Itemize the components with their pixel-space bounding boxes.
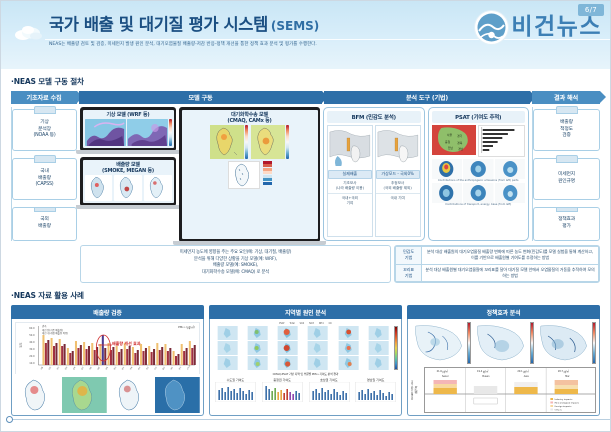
wrf-colorbar xyxy=(169,119,172,146)
legend-item-2: 개선 후(개정 배출량 적용) xyxy=(42,332,68,336)
chart-legend: 관측 개선 전(기존 배출량) 개선 후(개정 배출량 적용) xyxy=(42,325,68,336)
bfm-case-zero-note: 추정모사 (국외 배출량 제외) xyxy=(376,179,420,193)
method-desc-tagging: 분석 대상 배출원별 대기오염물질에 꼬리표를 달아 대기질 모델 안에서 오염… xyxy=(422,264,599,282)
ctm-map-3 xyxy=(228,161,260,189)
psat-col-labels: PSAT Total SO4 NO3 NH4 OC xyxy=(213,322,398,325)
policy-map-0 xyxy=(411,322,471,364)
policy-colorbar-0 xyxy=(467,322,471,364)
ctm-map-2 xyxy=(251,125,289,159)
svg-text:Meteorological impacts: Meteorological impacts xyxy=(555,402,580,405)
svg-text:경남: 경남 xyxy=(458,146,463,151)
method-desc-sensitivity: 분석 대상 배출원의 대기오염물질 배출량 변화에 따른 농도 변화(민감도)를… xyxy=(422,247,599,265)
svg-text:경북: 경북 xyxy=(457,140,462,145)
output-label: 미세먼지 원인규명 xyxy=(558,172,575,186)
bfm-map-zero xyxy=(376,126,420,170)
ctm-model-screen: 대기화학수송 모델 (CMAQ, CAMx 등) xyxy=(182,110,318,239)
usecase-card-emission-verification: 배출량 검증 60.050.040.0 30.020.010.0 xyxy=(11,305,204,416)
col-label-3: NO3 xyxy=(309,322,314,325)
col-label-0: PSAT xyxy=(279,322,284,325)
ctm-model-title: 대기화학수송 모델 (CMAQ, CAMx 등) xyxy=(182,110,318,125)
section-usecases: NEAS 자료 활용 사례 배출량 검증 60.050.040.0 xyxy=(11,290,600,416)
svg-text:Seoul: Seoul xyxy=(442,375,449,378)
emission-map-row xyxy=(15,377,200,413)
brand-name: 비건뉴스 xyxy=(511,16,602,39)
page-title-main: 국가 배출 및 대기질 평가 시스템 xyxy=(49,16,268,34)
ctm-map-1 xyxy=(210,125,248,159)
stage-ribbon-tools: 분석 도구 (기법) xyxy=(324,91,530,104)
psat-colorbar xyxy=(394,326,398,370)
stage-label: 분석 도구 (기법) xyxy=(406,93,448,102)
svg-text:40.0: 40.0 xyxy=(29,341,35,344)
bfm-case-zero: 가상모드 - 국외0% 추정모사 (국외 배출량 제외) 국내 기여 xyxy=(375,125,421,237)
svg-text:19.4 ㎍/㎥: 19.4 ㎍/㎥ xyxy=(477,369,489,373)
output-column: 배출량 적정도 검증 미세먼지 원인규명 정책효과 평가 xyxy=(532,107,600,241)
page-title-acronym: (SEMS) xyxy=(271,19,319,33)
stage-ribbon-models: 모델 구동 xyxy=(79,91,322,104)
policy-colorbar-1 xyxy=(530,322,534,364)
emission-map-1 xyxy=(85,175,113,201)
input-card-weather: 기상 분석장 (NOAA 등) xyxy=(12,109,77,151)
output-card-policy-eval: 정책효과 평가 xyxy=(533,207,600,241)
bfm-case-base-note: 기초모사 (나라 배출량 이용) xyxy=(328,179,372,193)
svg-text:20.1 ㎍/㎥: 20.1 ㎍/㎥ xyxy=(517,369,529,373)
card-title: 배출량 검증 xyxy=(11,305,204,319)
policy-axis-label: 부문별 기여 농도 (㎍/㎥) xyxy=(411,367,422,413)
input-column: 기상 분석장 (NOAA 등) 국내 배출량 (CAPSS) 국외 배출량 xyxy=(11,107,77,241)
method-note-table: 민감도 기법 분석 대상 배출원의 대기오염물질 배출량 변화에 따른 농도 변… xyxy=(394,245,600,283)
tool-panel-psat: PSAT (기여도 추적) 서울 경기 충청 경북 전남 경남 xyxy=(428,107,530,241)
laptop-icon-emission: 배출량 모델 (SMOKE, MEGAN 등) xyxy=(80,157,176,205)
laptop-icon-ctm: 대기화학수송 모델 (CMAQ, CAMx 등) xyxy=(179,107,320,241)
bfm-title: BFM (민감도 분석) xyxy=(327,111,421,123)
emission-bar-chart: 60.050.040.0 30.020.010.0 xyxy=(15,322,200,374)
card-body: PSAT Total SO4 NO3 NH4 OC xyxy=(209,319,402,416)
psat-grid-caption: CMAQ-PSAT 기반 지역 및 부문별 PM₂.₅ 기여도 분석 결과 xyxy=(213,372,398,376)
svg-text:충청: 충청 xyxy=(445,139,450,144)
section-title-usecases: NEAS 자료 활용 사례 xyxy=(11,290,600,301)
svg-text:30.0: 30.0 xyxy=(29,348,35,351)
stage-label: 결과 해석 xyxy=(554,93,578,102)
card-title: 지역별 원인 분석 xyxy=(209,305,402,319)
emission-model-screen: 배출량 모델 (SMOKE, MEGAN 등) xyxy=(83,160,174,203)
wrf-map-1 xyxy=(85,119,126,146)
svg-text:Others: Others xyxy=(555,409,562,412)
footer-bullet-icon xyxy=(6,416,13,423)
psat-contrib-row-1 xyxy=(432,159,526,179)
svg-text:21.6 ㎍/㎥: 21.6 ㎍/㎥ xyxy=(437,369,449,373)
chart-annotation: 배출량 개선 효과 xyxy=(112,341,141,347)
bfm-case-base: 실제배출 기초모사 (나라 배출량 이용) 국내+국외 기여 xyxy=(327,125,373,237)
emission-map-2 xyxy=(114,175,142,201)
svg-text:전남: 전남 xyxy=(447,145,452,150)
policy-stack-chart: 부문별 기여 농도 (㎍/㎥) xyxy=(411,367,596,413)
model-note: 미세먼지 농도에 영향을 주는 주요 요인(예: 기상, 대기질, 배출량) 분… xyxy=(80,245,391,283)
emission-map-d xyxy=(155,377,200,413)
policy-map-row xyxy=(411,322,596,364)
psat-source-map: 서울 경기 충청 경북 전남 경남 xyxy=(432,125,477,157)
region-bar-3: 영남권 기여도 xyxy=(353,378,398,402)
table-row: 민감도 기법 분석 대상 배출원의 대기오염물질 배출량 변화에 따른 농도 변… xyxy=(396,247,599,265)
cloud-icon xyxy=(15,23,43,41)
output-label: 배출량 적정도 검증 xyxy=(560,120,573,141)
model-group: 기상 모델 (WRF 등) xyxy=(80,107,176,241)
svg-text:Mar: Mar xyxy=(565,375,569,378)
page-header: 국가 배출 및 대기질 평가 시스템(SEMS) NEAS는 배출량 검토 및 … xyxy=(1,1,610,69)
input-label: 기상 분석장 (NOAA 등) xyxy=(33,120,55,141)
stage-label: 기초자료 수집 xyxy=(27,93,62,102)
region-bar-1: 충청권 기여도 xyxy=(260,378,305,402)
psat-bar-chart xyxy=(478,125,525,157)
input-label: 국내 배출량 (CAPSS) xyxy=(36,169,54,190)
input-card-domestic-emission: 국내 배출량 (CAPSS) xyxy=(12,158,77,200)
tools-column: BFM (민감도 분석) 실제배출 기초모사 (나라 배출량 이용 xyxy=(323,107,529,241)
svg-text:Asia: Asia xyxy=(524,375,529,378)
model-column: 기상 모델 (WRF 등) xyxy=(80,107,320,241)
svg-text:경기: 경기 xyxy=(457,133,462,138)
col-label-4: NH4 xyxy=(319,322,324,325)
svg-text:50.0: 50.0 xyxy=(29,334,35,337)
procedure-diagram: 기상 분석장 (NOAA 등) 국내 배출량 (CAPSS) 국외 배출량 기상… xyxy=(11,107,600,241)
psat-caption-2: Contributions of transport, energy, base… xyxy=(432,203,526,206)
page-body: NEAS 모델 구동 절차 기초자료 수집 모델 구동 분석 도구 (기법) 결… xyxy=(1,69,610,416)
wrf-model-screen: 기상 모델 (WRF 등) xyxy=(83,110,174,148)
svg-text:18.7 ㎍/㎥: 18.7 ㎍/㎥ xyxy=(558,369,570,373)
psat-title: PSAT (기여도 추적) xyxy=(432,111,526,123)
svg-text:서울: 서울 xyxy=(446,132,451,137)
policy-map-1 xyxy=(473,322,533,364)
card-title: 정책효과 분석 xyxy=(407,305,600,319)
col-label-2: SO4 xyxy=(300,322,305,325)
region-bar-2: 호남권 기여도 xyxy=(307,378,352,402)
laptop-icon-wrf: 기상 모델 (WRF 등) xyxy=(80,107,176,150)
stage-ribbon-inputs: 기초자료 수집 xyxy=(11,91,77,104)
bfm-case-zero-sub: 국내 기여 xyxy=(376,193,420,203)
output-label: 정책효과 평가 xyxy=(558,217,575,231)
chart-unit-label: PM₂.₅ (㎍/㎥) xyxy=(178,325,195,329)
ctm-legend xyxy=(263,161,272,185)
wrf-map-2 xyxy=(127,119,168,146)
page-number-badge: 6/7 xyxy=(578,4,604,16)
usecase-card-policy-effect: 정책효과 분석 xyxy=(407,305,600,416)
input-card-foreign-emission: 국외 배출량 xyxy=(12,207,77,241)
emission-map-3 xyxy=(144,175,172,201)
bfm-case-base-sub: 국내+국외 기여 xyxy=(328,193,372,208)
usecase-card-regional-cause: 지역별 원인 분석 PSAT Total SO4 NO3 NH4 OC xyxy=(209,305,402,416)
page-subtitle: NEAS는 배출량 검토 및 검증, 미세먼지 발생 원인 분석, 대기오염물질… xyxy=(49,42,317,48)
svg-text:Busan: Busan xyxy=(482,375,490,378)
psat-caption-1: Contributions of the anthropogenic emiss… xyxy=(432,179,526,182)
bfm-case-zero-caption: 가상모드 - 국외0% xyxy=(376,170,420,179)
tool-panel-bfm: BFM (민감도 분석) 실제배출 기초모사 (나라 배출량 이용 xyxy=(323,107,425,241)
emission-map-b xyxy=(62,377,107,413)
svg-text:Industry impacts: Industry impacts xyxy=(555,398,573,401)
psat-contrib-row-2 xyxy=(432,183,526,203)
col-label-5: OC xyxy=(329,322,332,325)
bfm-map-base xyxy=(328,126,372,170)
ctm-group: 대기화학수송 모델 (CMAQ, CAMx 등) xyxy=(179,107,320,241)
stage-label: 모델 구동 xyxy=(189,93,213,102)
region-bar-row: 수도권 기여도 충청권 기여도 호남권 기여도 xyxy=(213,378,398,402)
svg-text:Foreign impacts: Foreign impacts xyxy=(555,405,572,408)
method-key-tagging: 꼬리표 기법 xyxy=(396,264,422,282)
output-card-emission-verify: 배출량 적정도 검증 xyxy=(533,109,600,151)
table-row: 꼬리표 기법 분석 대상 배출원별 대기오염물질에 꼬리표를 달아 대기질 모델… xyxy=(396,264,599,282)
emission-model-title: 배출량 모델 (SMOKE, MEGAN 등) xyxy=(83,160,174,175)
svg-text:60.0: 60.0 xyxy=(29,327,35,330)
footer-divider xyxy=(7,419,610,420)
policy-colorbar-2 xyxy=(592,322,596,364)
slide-page: 국가 배출 및 대기질 평가 시스템(SEMS) NEAS는 배출량 검토 및 … xyxy=(0,0,611,432)
input-label: 국외 배출량 xyxy=(38,217,51,231)
wrf-model-title: 기상 모델 (WRF 등) xyxy=(83,110,174,119)
notes-row: 미세먼지 농도에 영향을 주는 주요 요인(예: 기상, 대기질, 배출량) 분… xyxy=(11,245,600,283)
chart-axis-label: 농도 xyxy=(19,343,23,348)
method-key-sensitivity: 민감도 기법 xyxy=(396,247,422,265)
globe-logo-icon xyxy=(475,11,508,44)
card-body: 부문별 기여 농도 (㎍/㎥) xyxy=(407,319,600,416)
region-bar-0: 수도권 기여도 xyxy=(213,378,258,402)
col-label-1: Total xyxy=(290,322,295,325)
policy-map-2 xyxy=(536,322,596,364)
usecase-cards: 배출량 검증 60.050.040.0 30.020.010.0 xyxy=(11,305,600,416)
emission-map-a xyxy=(15,377,60,413)
psat-map-grid xyxy=(213,326,398,370)
bfm-case-base-caption: 실제배출 xyxy=(328,170,372,179)
svg-text:10.0: 10.0 xyxy=(29,362,35,365)
section-title-procedure: NEAS 모델 구동 절차 xyxy=(11,76,600,87)
emission-map-c xyxy=(109,377,154,413)
output-card-cause-analysis: 미세먼지 원인규명 xyxy=(533,158,600,200)
svg-text:20.0: 20.0 xyxy=(29,355,35,358)
page-title: 국가 배출 및 대기질 평가 시스템(SEMS) xyxy=(49,15,319,34)
stage-ribbon-row: 기초자료 수집 모델 구동 분석 도구 (기법) 결과 해석 xyxy=(11,91,600,104)
stage-ribbon-results: 결과 해석 xyxy=(532,91,600,104)
card-body: 60.050.040.0 30.020.010.0 xyxy=(11,319,204,416)
